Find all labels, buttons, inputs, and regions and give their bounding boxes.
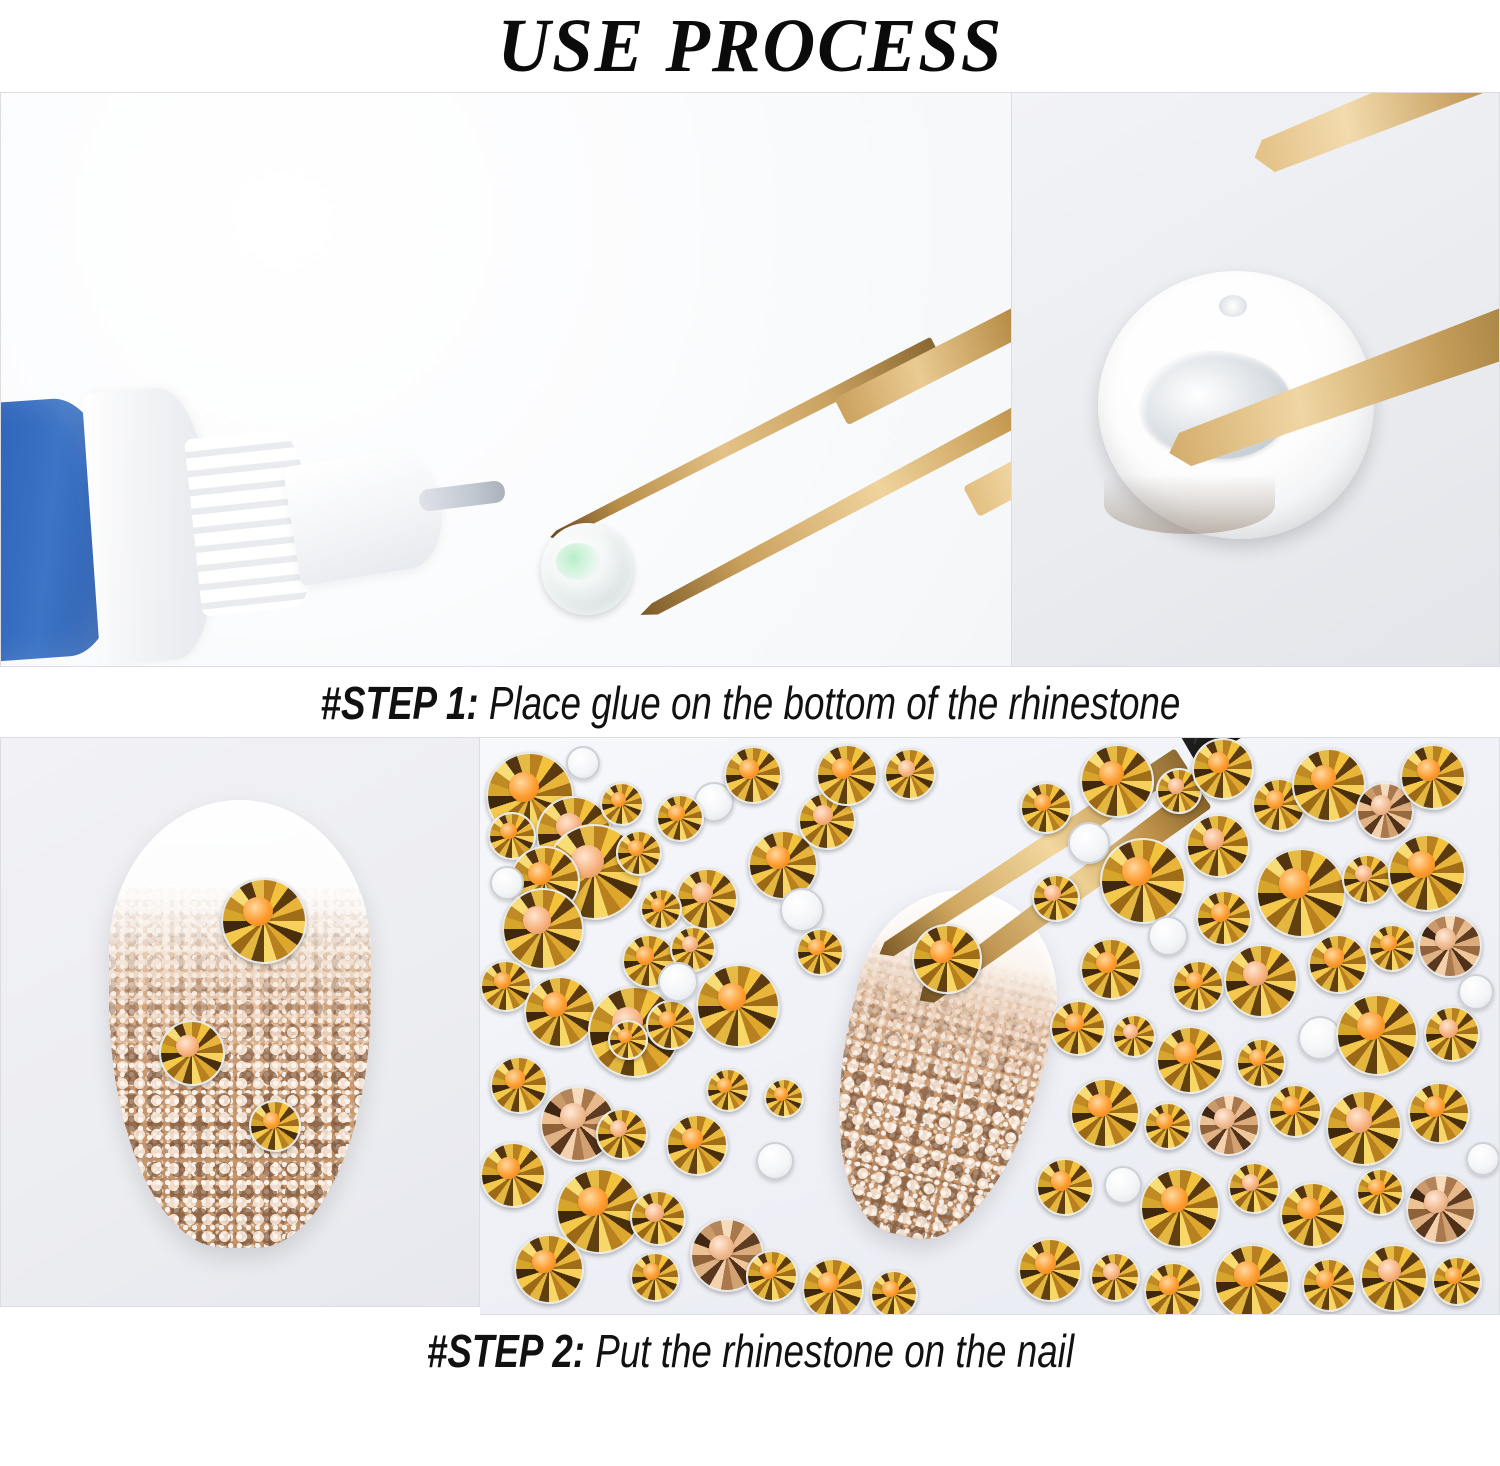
- scatter-rhinestone: [1236, 1038, 1286, 1088]
- scatter-rhinestone: [1356, 1168, 1404, 1216]
- scatter-rhinestone: [1144, 1262, 1202, 1315]
- scatter-rhinestone: [524, 976, 596, 1048]
- step-2-label: #STEP 2:: [426, 1325, 584, 1377]
- glitter-layer-coarse: [109, 800, 371, 1248]
- glue-bubble: [1219, 295, 1247, 316]
- scatter-rhinestone: [1090, 1252, 1140, 1302]
- scatter-rhinestone: [1326, 1090, 1402, 1166]
- scatter-rhinestone: [870, 1270, 918, 1315]
- nail-rhinestone-small: [249, 1100, 301, 1152]
- scatter-rhinestone: [1268, 1084, 1322, 1138]
- scatter-rhinestone: [640, 888, 682, 930]
- glue-bottle-nozzle: [283, 444, 450, 586]
- scatter-rhinestone: [1032, 874, 1080, 922]
- nail-rhinestone-medium: [159, 1020, 225, 1086]
- scatter-rhinestone: [724, 746, 782, 804]
- scatter-rhinestone: [1112, 1014, 1156, 1058]
- scatter-rhinestone: [796, 928, 844, 976]
- scatter-rhinestone: [1408, 1082, 1470, 1144]
- scatter-rhinestone: [1256, 848, 1346, 938]
- scatter-rhinestone: [1080, 744, 1154, 818]
- scatter-rhinestone: [600, 782, 644, 826]
- scatter-rhinestone: [1400, 744, 1466, 810]
- scatter-rhinestone: [656, 794, 704, 842]
- scatter-rhinestone: [1280, 1182, 1346, 1248]
- step-1-panel-row: [0, 92, 1500, 667]
- scatter-rhinestone: [1360, 1244, 1428, 1312]
- step-2-text: Put the rhinestone on the nail: [585, 1325, 1074, 1377]
- page-title: USE PROCESS: [497, 8, 1003, 84]
- scatter-rhinestone: [1172, 960, 1224, 1012]
- scatter-rhinestone: [596, 1108, 648, 1160]
- scatter-rhinestone: [1140, 1168, 1220, 1248]
- step-1-block: #STEP 1: Place glue on the bottom of the…: [0, 92, 1500, 737]
- scatter-rhinestone-flatback: [780, 888, 824, 932]
- scatter-rhinestone: [1432, 1256, 1482, 1306]
- rhinestone-rim-shadow: [1104, 475, 1275, 534]
- scatter-rhinestone-flatback: [1068, 822, 1110, 864]
- scatter-rhinestone: [630, 1252, 680, 1302]
- tweezer-upper-gold-shaft: [834, 285, 1012, 425]
- scatter-rhinestone: [746, 1250, 798, 1302]
- tweezer-upper-gold-tip: [547, 337, 937, 546]
- scatter-rhinestone: [1406, 1174, 1476, 1244]
- scatter-rhinestone: [1080, 938, 1142, 1000]
- scatter-rhinestone: [1070, 1078, 1140, 1148]
- glue-bottle: [0, 381, 521, 667]
- scatter-rhinestone: [1144, 1102, 1192, 1150]
- scatter-rhinestone: [1186, 814, 1250, 878]
- scatter-rhinestone: [1292, 748, 1366, 822]
- scatter-rhinestone: [1228, 1162, 1280, 1214]
- nail-rhinestone-large: [221, 878, 307, 964]
- scatter-rhinestone: [1302, 1258, 1356, 1312]
- scatter-rhinestone: [696, 964, 780, 1048]
- scatter-rhinestone: [1198, 1094, 1260, 1156]
- scatter-rhinestone: [502, 888, 584, 970]
- scatter-rhinestone: [1336, 994, 1418, 1076]
- glue-bottle-tweezers-photo: [0, 92, 1012, 667]
- scatter-rhinestone: [1196, 890, 1252, 946]
- scatter-rhinestone: [1050, 1000, 1106, 1056]
- glue-on-rhinestone-macro-photo: [1012, 92, 1500, 667]
- scatter-rhinestone: [1156, 1026, 1224, 1094]
- clear-rhinestone: [541, 523, 633, 615]
- scatter-rhinestone: [630, 1190, 686, 1246]
- rhinestone-being-placed: [912, 924, 982, 994]
- scatter-rhinestone: [1368, 924, 1416, 972]
- scatter-rhinestone: [706, 1068, 750, 1112]
- step-2-panel-row: [0, 737, 1500, 1315]
- scatter-rhinestone: [1018, 1238, 1082, 1302]
- scatter-rhinestone: [1100, 838, 1186, 924]
- scatter-rhinestone: [1036, 1158, 1094, 1216]
- step-1-caption: #STEP 1: Place glue on the bottom of the…: [0, 667, 1500, 737]
- scatter-rhinestone: [816, 744, 878, 806]
- scatter-rhinestone: [1418, 914, 1482, 978]
- step-1-label: #STEP 1:: [320, 677, 478, 729]
- scatter-rhinestone: [490, 1056, 548, 1114]
- scatter-rhinestone: [616, 830, 662, 876]
- scatter-rhinestone: [646, 1000, 696, 1050]
- scatter-rhinestone: [514, 1234, 584, 1304]
- scatter-rhinestone: [1192, 738, 1254, 800]
- scatter-rhinestone: [802, 1258, 864, 1315]
- step-1-text: Place glue on the bottom of the rhinesto…: [478, 677, 1180, 729]
- press-on-nail: [109, 800, 371, 1248]
- rhinestone-scatter-tweezers-photo: [480, 737, 1500, 1315]
- scatter-rhinestone: [1214, 1244, 1290, 1315]
- scatter-rhinestone: [676, 868, 738, 930]
- scatter-rhinestone: [1342, 854, 1392, 904]
- scatter-rhinestone: [1424, 1006, 1480, 1062]
- step-2-caption: #STEP 2: Put the rhinestone on the nail: [0, 1315, 1500, 1385]
- scatter-rhinestone: [1224, 944, 1298, 1018]
- step-2-block: #STEP 2: Put the rhinestone on the nail: [0, 737, 1500, 1385]
- header: USE PROCESS: [0, 0, 1500, 92]
- scatter-rhinestone: [480, 1142, 546, 1208]
- scatter-rhinestone: [1020, 782, 1072, 834]
- scatter-rhinestone: [1308, 934, 1368, 994]
- scatter-rhinestone: [1388, 834, 1466, 912]
- scatter-rhinestone: [666, 1114, 728, 1176]
- decorated-nail-photo: [0, 737, 480, 1307]
